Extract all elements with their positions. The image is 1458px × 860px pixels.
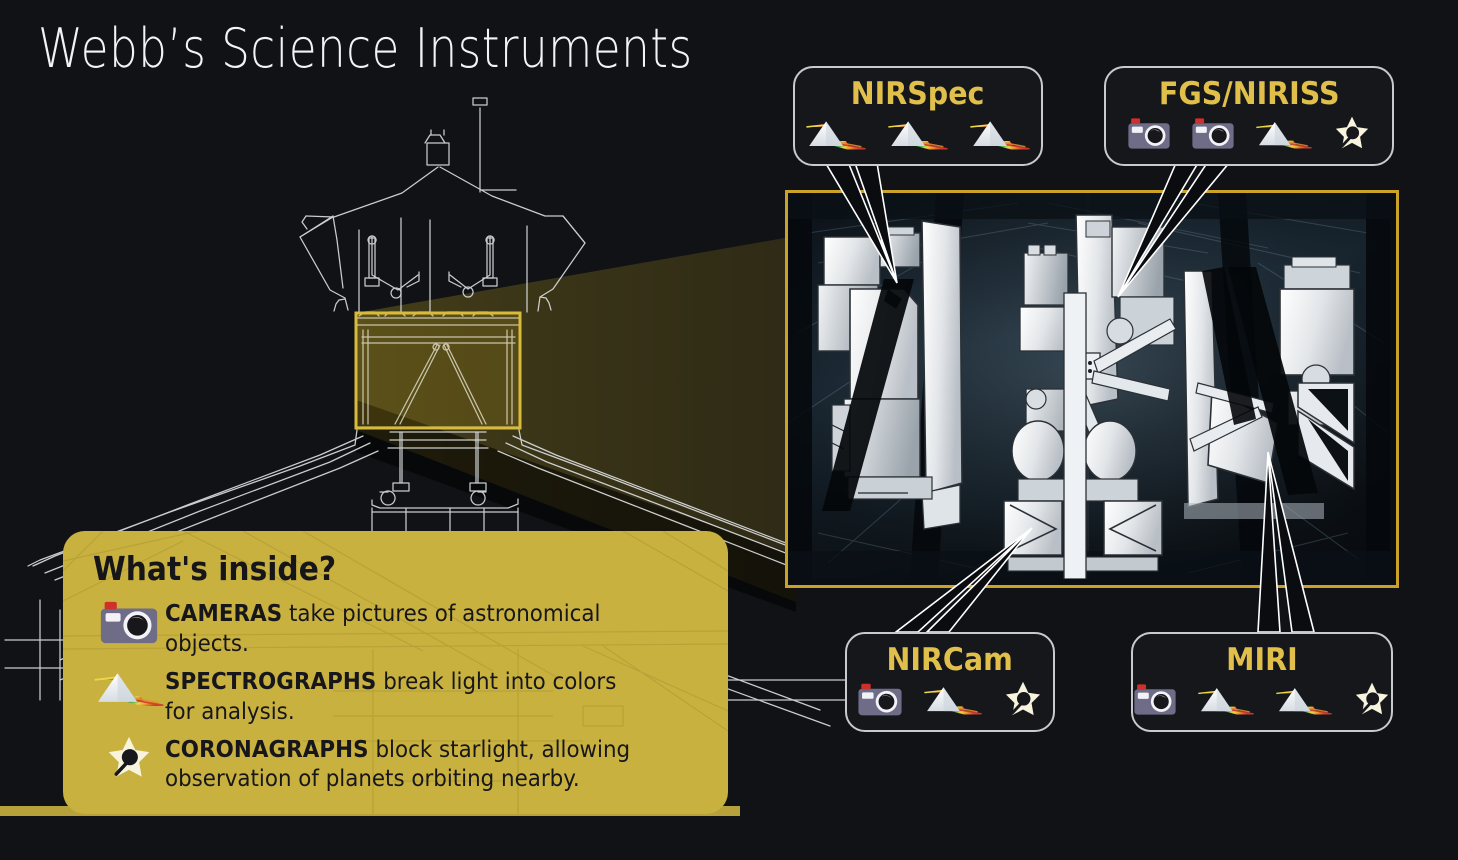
spectrograph-icon — [1197, 684, 1255, 716]
callout-nircam[interactable]: NIRCam — [845, 632, 1055, 732]
callout-nirspec-label: NIRSpec — [851, 79, 985, 110]
callout-nirspec[interactable]: NIRSpec — [793, 66, 1043, 166]
callout-nircam-icons — [857, 680, 1043, 720]
infographic-canvas: Webb’s Science Instruments — [0, 0, 1458, 860]
camera-icon — [1127, 117, 1171, 150]
camera-icon — [1191, 117, 1235, 150]
spectrograph-icon — [923, 683, 983, 716]
spectrograph-icon — [887, 117, 949, 151]
coronagraph-icon — [1003, 681, 1043, 718]
spectrograph-icon — [1275, 684, 1333, 716]
coronagraph-icon — [1353, 682, 1391, 717]
spectrograph-icon — [1255, 118, 1313, 150]
camera-icon — [1133, 683, 1177, 716]
callout-miri-icons — [1133, 680, 1391, 720]
camera-icon — [857, 682, 903, 717]
callout-fgs-niriss[interactable]: FGS/NIRISS — [1104, 66, 1394, 166]
callout-fgs-niriss-label: FGS/NIRISS — [1159, 79, 1340, 110]
callout-miri[interactable]: MIRI — [1131, 632, 1393, 732]
callout-miri-label: MIRI — [1226, 645, 1298, 676]
coronagraph-icon — [1333, 116, 1371, 151]
callout-fgs-niriss-icons — [1127, 114, 1371, 154]
spectrograph-icon — [805, 117, 867, 151]
spectrograph-icon — [969, 117, 1031, 151]
callout-nircam-label: NIRCam — [887, 645, 1013, 676]
callout-nirspec-icons — [805, 114, 1031, 154]
